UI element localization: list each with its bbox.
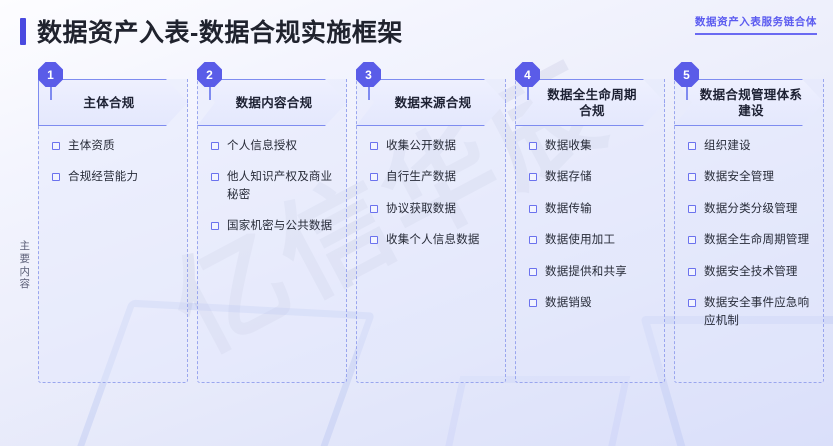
list-item-label: 数据使用加工 bbox=[545, 232, 615, 249]
checkbox-square-icon bbox=[688, 173, 696, 181]
list-item[interactable]: 数据销毁 bbox=[529, 295, 655, 312]
checkbox-square-icon bbox=[529, 142, 537, 150]
checkbox-square-icon bbox=[688, 205, 696, 213]
list-item-label: 个人信息授权 bbox=[227, 138, 297, 155]
stage-column-4[interactable]: 数据全生命周期 合规 4 数据收集 数据存储 数据传输 bbox=[515, 62, 665, 392]
list-item-label: 组织建设 bbox=[704, 138, 751, 155]
page-header: 数据资产入表-数据合规实施框架 数据资产入表服务链合体 bbox=[0, 0, 833, 62]
list-item[interactable]: 协议获取数据 bbox=[370, 201, 496, 218]
list-item-label: 数据安全技术管理 bbox=[704, 264, 798, 281]
checkbox-square-icon bbox=[370, 205, 378, 213]
title-accent-bar bbox=[20, 18, 26, 45]
stage-header-2[interactable]: 数据内容合规 bbox=[197, 79, 347, 126]
list-item-label: 国家机密与公共数据 bbox=[227, 218, 332, 235]
list-item[interactable]: 数据安全技术管理 bbox=[688, 264, 814, 281]
columns-container: 主体合规 1 主体资质 合规经营能力 数据内容合规 2 bbox=[38, 62, 824, 392]
page-title-text: 数据资产入表-数据合规实施框架 bbox=[37, 13, 403, 49]
stage-title-2: 数据内容合规 bbox=[236, 95, 313, 111]
stage-column-2[interactable]: 数据内容合规 2 个人信息授权 他人知识产权及商业秘密 国家机密与公共数据 bbox=[197, 62, 347, 392]
stage-list-5: 组织建设 数据安全管理 数据分类分级管理 数据全生命周期管理 数据安全技术管理 bbox=[674, 138, 824, 344]
list-item-label: 数据安全事件应急响应机制 bbox=[704, 295, 814, 330]
stage-number-badge-4: 4 bbox=[515, 62, 540, 87]
list-item[interactable]: 数据安全管理 bbox=[688, 169, 814, 186]
list-item-label: 数据存储 bbox=[545, 169, 592, 186]
list-item[interactable]: 收集个人信息数据 bbox=[370, 232, 496, 249]
stage-header-5[interactable]: 数据合规管理体系 建设 bbox=[674, 79, 824, 126]
list-item-label: 主体资质 bbox=[68, 138, 115, 155]
checkbox-square-icon bbox=[211, 142, 219, 150]
badge-stem-3 bbox=[368, 86, 370, 100]
list-item[interactable]: 数据收集 bbox=[529, 138, 655, 155]
badge-stem-4 bbox=[527, 86, 529, 100]
list-item-label: 数据销毁 bbox=[545, 295, 592, 312]
checkbox-square-icon bbox=[688, 268, 696, 276]
list-item[interactable]: 数据提供和共享 bbox=[529, 264, 655, 281]
stage-list-4: 数据收集 数据存储 数据传输 数据使用加工 数据提供和共享 bbox=[515, 138, 665, 327]
list-item-label: 数据传输 bbox=[545, 201, 592, 218]
checkbox-square-icon bbox=[370, 142, 378, 150]
stage-number-badge-5: 5 bbox=[674, 62, 699, 87]
stage-number-badge-2: 2 bbox=[197, 62, 222, 87]
checkbox-square-icon bbox=[52, 173, 60, 181]
stage-header-3[interactable]: 数据来源合规 bbox=[356, 79, 506, 126]
checkbox-square-icon bbox=[370, 236, 378, 244]
checkbox-square-icon bbox=[688, 299, 696, 307]
list-item-label: 数据全生命周期管理 bbox=[704, 232, 809, 249]
list-item-label: 自行生产数据 bbox=[386, 169, 456, 186]
list-item-label: 他人知识产权及商业秘密 bbox=[227, 169, 337, 204]
stage-number-badge-1: 1 bbox=[38, 62, 63, 87]
checkbox-square-icon bbox=[688, 142, 696, 150]
list-item[interactable]: 收集公开数据 bbox=[370, 138, 496, 155]
list-item-label: 收集个人信息数据 bbox=[386, 232, 480, 249]
stage-header-1[interactable]: 主体合规 bbox=[38, 79, 188, 126]
stage-title-3: 数据来源合规 bbox=[395, 95, 472, 111]
badge-stem-2 bbox=[209, 86, 211, 100]
list-item[interactable]: 国家机密与公共数据 bbox=[211, 218, 337, 235]
list-item-label: 数据提供和共享 bbox=[545, 264, 627, 281]
stage-column-5[interactable]: 数据合规管理体系 建设 5 组织建设 数据安全管理 数据分类分级管理 bbox=[674, 62, 824, 392]
list-item[interactable]: 主体资质 bbox=[52, 138, 178, 155]
stage-number-badge-3: 3 bbox=[356, 62, 381, 87]
list-item[interactable]: 数据使用加工 bbox=[529, 232, 655, 249]
side-label-main-content: 主 要 内 容 bbox=[14, 240, 36, 291]
checkbox-square-icon bbox=[529, 299, 537, 307]
checkbox-square-icon bbox=[529, 173, 537, 181]
stage-column-1[interactable]: 主体合规 1 主体资质 合规经营能力 bbox=[38, 62, 188, 392]
checkbox-square-icon bbox=[529, 236, 537, 244]
list-item[interactable]: 个人信息授权 bbox=[211, 138, 337, 155]
stage-title-1: 主体合规 bbox=[83, 95, 134, 111]
stage-list-2: 个人信息授权 他人知识产权及商业秘密 国家机密与公共数据 bbox=[197, 138, 347, 250]
checkbox-square-icon bbox=[211, 222, 219, 230]
badge-stem-5 bbox=[686, 86, 688, 100]
list-item[interactable]: 合规经营能力 bbox=[52, 169, 178, 186]
list-item[interactable]: 自行生产数据 bbox=[370, 169, 496, 186]
stage-title-4: 数据全生命周期 合规 bbox=[547, 87, 637, 119]
stage-list-1: 主体资质 合规经营能力 bbox=[38, 138, 188, 201]
list-item-label: 收集公开数据 bbox=[386, 138, 456, 155]
framework-board: 主 要 内 容 主体合规 1 主体资质 合规经营能力 bbox=[0, 62, 833, 446]
stage-list-3: 收集公开数据 自行生产数据 协议获取数据 收集个人信息数据 bbox=[356, 138, 506, 264]
brand-underline bbox=[695, 33, 817, 35]
list-item-label: 数据分类分级管理 bbox=[704, 201, 798, 218]
checkbox-square-icon bbox=[211, 173, 219, 181]
brand-mark: 数据资产入表服务链合体 bbox=[695, 14, 817, 35]
badge-stem-1 bbox=[50, 86, 52, 100]
list-item-label: 数据收集 bbox=[545, 138, 592, 155]
stage-title-5: 数据合规管理体系 建设 bbox=[700, 87, 802, 119]
checkbox-square-icon bbox=[370, 173, 378, 181]
checkbox-square-icon bbox=[529, 205, 537, 213]
checkbox-square-icon bbox=[688, 236, 696, 244]
list-item-label: 协议获取数据 bbox=[386, 201, 456, 218]
stage-header-4[interactable]: 数据全生命周期 合规 bbox=[515, 79, 665, 126]
list-item[interactable]: 数据传输 bbox=[529, 201, 655, 218]
brand-label: 数据资产入表服务链合体 bbox=[695, 14, 817, 29]
list-item[interactable]: 数据分类分级管理 bbox=[688, 201, 814, 218]
list-item[interactable]: 组织建设 bbox=[688, 138, 814, 155]
list-item-label: 数据安全管理 bbox=[704, 169, 774, 186]
list-item-label: 合规经营能力 bbox=[68, 169, 138, 186]
checkbox-square-icon bbox=[52, 142, 60, 150]
list-item[interactable]: 数据安全事件应急响应机制 bbox=[688, 295, 814, 330]
list-item[interactable]: 数据全生命周期管理 bbox=[688, 232, 814, 249]
list-item[interactable]: 他人知识产权及商业秘密 bbox=[211, 169, 337, 204]
list-item[interactable]: 数据存储 bbox=[529, 169, 655, 186]
stage-column-3[interactable]: 数据来源合规 3 收集公开数据 自行生产数据 协议获取数据 bbox=[356, 62, 506, 392]
checkbox-square-icon bbox=[529, 268, 537, 276]
page-title: 数据资产入表-数据合规实施框架 bbox=[20, 13, 403, 49]
